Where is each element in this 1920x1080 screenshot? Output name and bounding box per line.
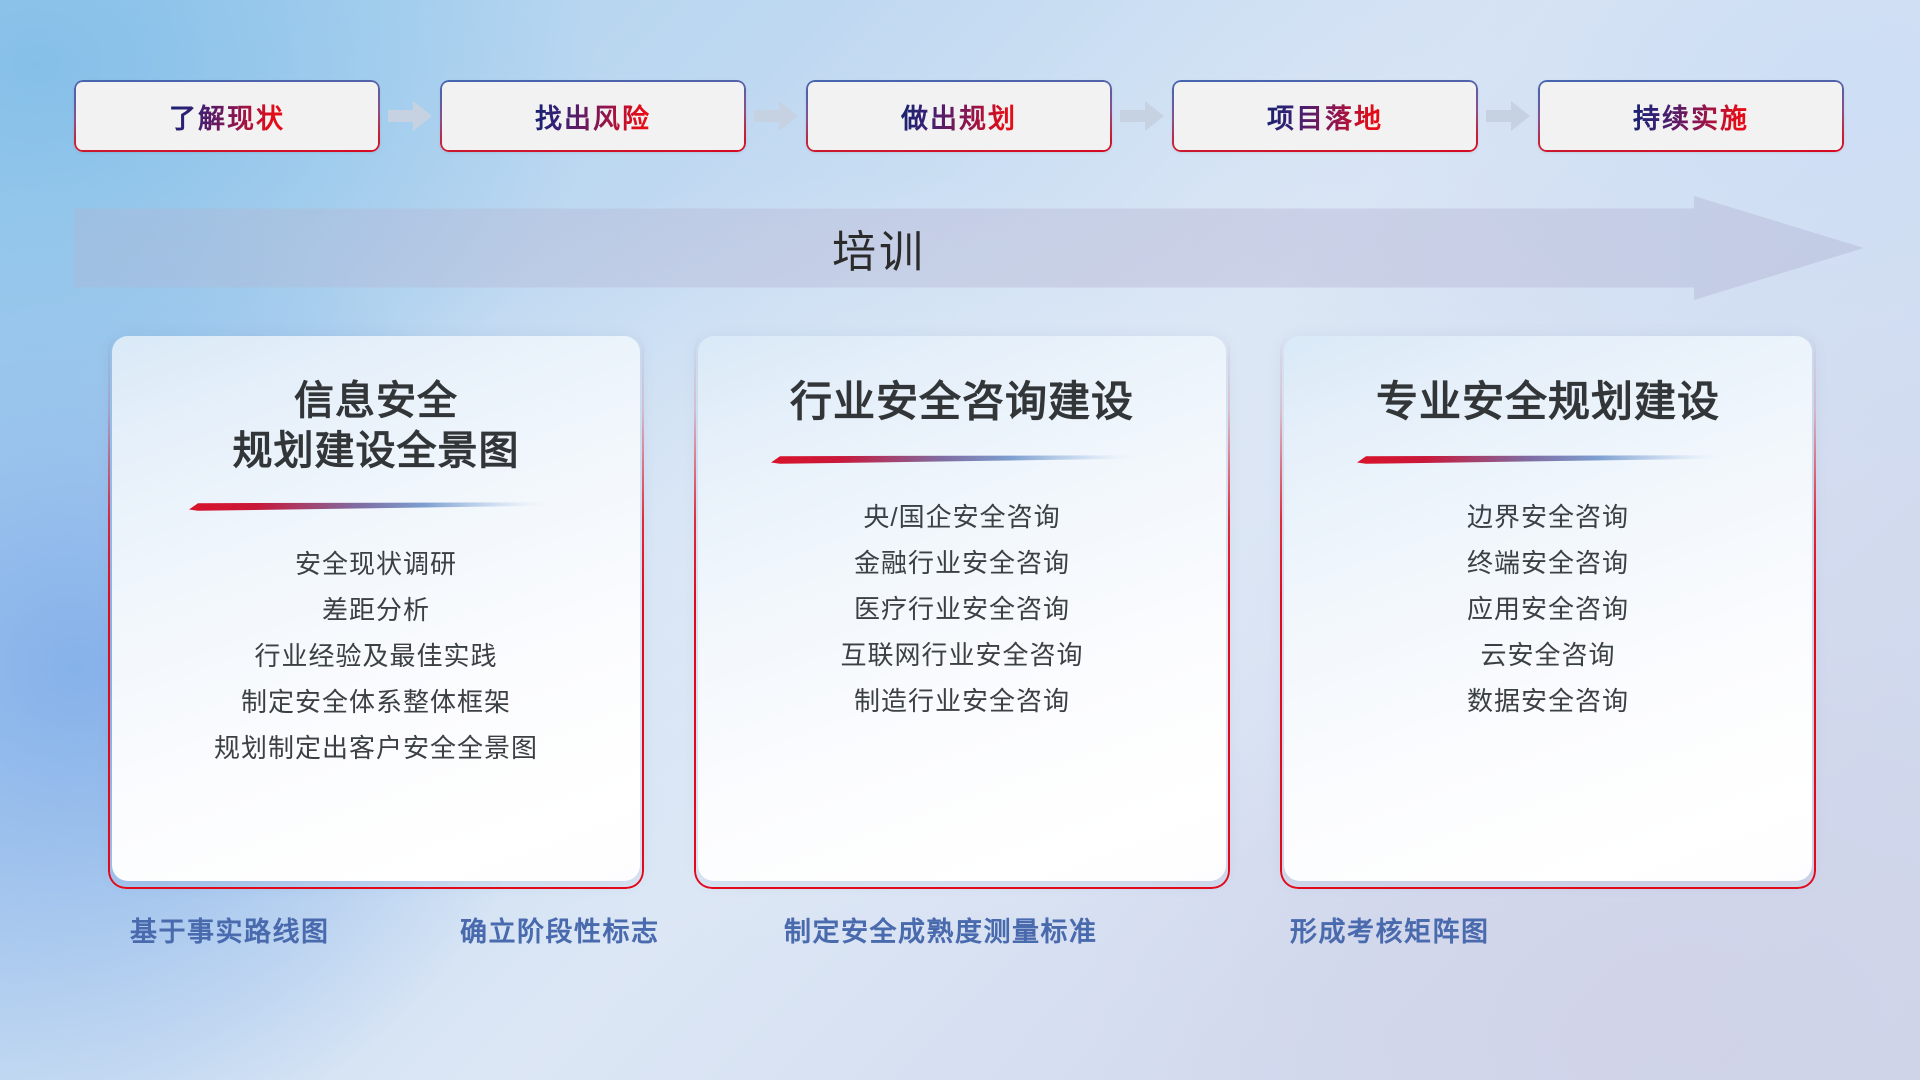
footer-label-0: 基于事实路线图	[130, 910, 330, 949]
card-industry-security-consulting[interactable]: 行业安全咨询建设	[698, 336, 1226, 881]
step-label-2: 做出规划	[901, 97, 1017, 136]
list-item: 金融行业安全咨询	[854, 546, 1070, 581]
list-item: 云安全咨询	[1480, 638, 1615, 673]
list-item: 数据安全咨询	[1467, 684, 1629, 719]
list-item: 边界安全咨询	[1467, 500, 1629, 535]
footer-label-3: 形成考核矩阵图	[1290, 910, 1490, 949]
training-banner: 培训	[74, 196, 1864, 300]
list-item: 行业经验及最佳实践	[254, 639, 497, 674]
list-item: 制造行业安全咨询	[854, 684, 1070, 719]
step-box-0[interactable]: 了解现状	[74, 80, 380, 152]
step-box-4[interactable]: 持续实施	[1538, 80, 1844, 152]
card-title: 行业安全咨询建设	[790, 376, 1134, 429]
capability-cards: 信息安全 规划建设全景图	[112, 336, 1812, 881]
list-item: 医疗行业安全咨询	[854, 592, 1070, 627]
card-item-list: 央/国企安全咨询 金融行业安全咨询 医疗行业安全咨询 互联网行业安全咨询 制造行…	[840, 500, 1083, 719]
step-arrow-icon-3	[1478, 93, 1538, 139]
list-item: 规划制定出客户安全全景图	[214, 731, 538, 766]
list-item: 互联网行业安全咨询	[840, 638, 1083, 673]
footer-label-1: 确立阶段性标志	[460, 910, 660, 949]
list-item: 央/国企安全咨询	[863, 500, 1060, 535]
gradient-divider-icon	[771, 455, 1153, 464]
card-item-list: 边界安全咨询 终端安全咨询 应用安全咨询 云安全咨询 数据安全咨询	[1467, 500, 1629, 719]
step-arrow-icon-0	[380, 93, 440, 139]
gradient-divider-icon	[1357, 455, 1739, 464]
card-item-list: 安全现状调研 差距分析 行业经验及最佳实践 制定安全体系整体框架 规划制定出客户…	[214, 547, 538, 766]
footer-outcome-labels: 基于事实路线图 确立阶段性标志 制定安全成熟度测量标准 形成考核矩阵图	[0, 910, 1920, 962]
step-box-1[interactable]: 找出风险	[440, 80, 746, 152]
gradient-divider-icon	[189, 502, 563, 511]
list-item: 终端安全咨询	[1467, 546, 1629, 581]
step-arrow-icon-2	[1112, 93, 1172, 139]
card-title: 专业安全规划建设	[1376, 376, 1720, 429]
step-label-0: 了解现状	[169, 97, 285, 136]
banner-title: 培训	[74, 216, 1684, 280]
list-item: 应用安全咨询	[1467, 592, 1629, 627]
card-professional-security-planning[interactable]: 专业安全规划建设	[1284, 336, 1812, 881]
process-steps-strip: 了解现状 找出风险 做出规划 项目落地 持续实施	[74, 78, 1846, 154]
step-label-3: 项目落地	[1267, 97, 1383, 136]
card-title: 信息安全 规划建设全景图	[233, 376, 520, 476]
step-label-4: 持续实施	[1633, 97, 1749, 136]
step-label-1: 找出风险	[535, 97, 651, 136]
list-item: 差距分析	[322, 593, 430, 628]
step-arrow-icon-1	[746, 93, 806, 139]
list-item: 制定安全体系整体框架	[241, 685, 511, 720]
step-box-3[interactable]: 项目落地	[1172, 80, 1478, 152]
card-information-security-blueprint[interactable]: 信息安全 规划建设全景图	[112, 336, 640, 881]
list-item: 安全现状调研	[295, 547, 457, 582]
step-box-2[interactable]: 做出规划	[806, 80, 1112, 152]
footer-label-2: 制定安全成熟度测量标准	[784, 910, 1098, 949]
